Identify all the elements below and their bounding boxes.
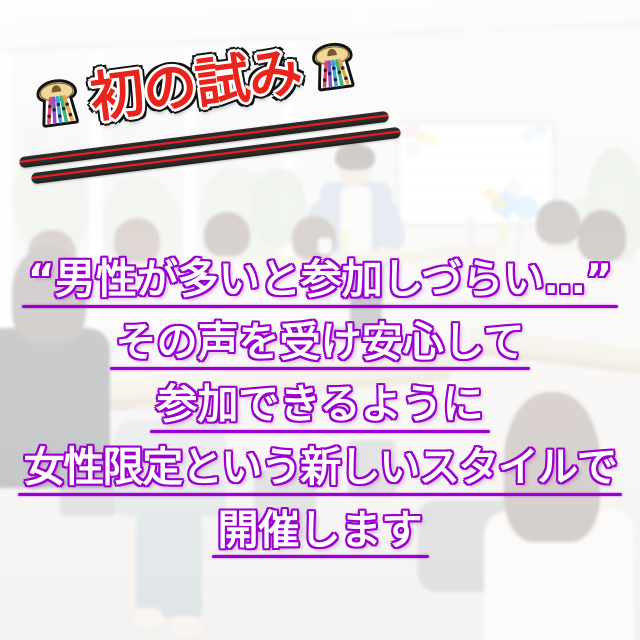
tanabata-streamer-icon — [299, 32, 369, 102]
message-block: “男性が多いと参加しづらい…” その声を受け安心して 参加できるように 女性限定… — [0, 258, 640, 571]
message-line-4: 女性限定という新しいスタイルで — [18, 446, 623, 495]
message-line-3: 参加できるように — [150, 383, 489, 432]
title-text: 初の試み — [87, 45, 304, 126]
poster-root: 初の試み — [0, 0, 640, 640]
message-line-2: その声を受け安心して — [110, 321, 531, 370]
message-line-1: “男性が多いと参加しづらい…” — [22, 258, 618, 307]
tanabata-streamer-icon — [23, 69, 93, 139]
message-line-5: 開催します — [212, 509, 429, 558]
